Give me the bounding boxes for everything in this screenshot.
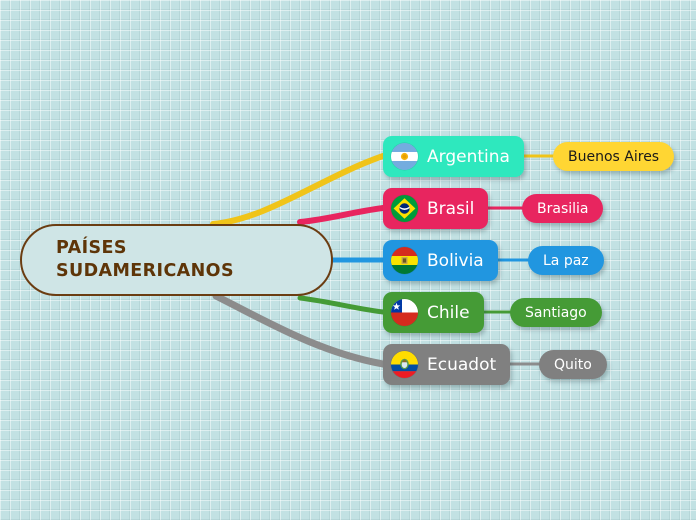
country-label-chile: Chile xyxy=(427,303,470,323)
edge-chile xyxy=(300,298,383,312)
country-label-ecuador: Ecuadot xyxy=(427,355,496,375)
mindmap-canvas[interactable]: PAÍSES SUDAMERICANOS Argentina Buenos Ai… xyxy=(0,0,696,520)
edge-argentina xyxy=(213,156,383,224)
flag-argentina-icon xyxy=(391,143,418,170)
flag-brazil-icon xyxy=(391,195,418,222)
flag-ecuador-icon xyxy=(391,351,418,378)
country-node-argentina[interactable]: Argentina xyxy=(383,136,524,177)
edge-ecuador xyxy=(216,296,383,364)
capital-label-brasilia: Brasilia xyxy=(537,201,588,217)
capital-label-buenos-aires: Buenos Aires xyxy=(568,149,659,165)
country-node-chile[interactable]: Chile xyxy=(383,292,484,333)
capital-node-quito[interactable]: Quito xyxy=(539,350,607,379)
root-node[interactable]: PAÍSES SUDAMERICANOS xyxy=(20,224,333,296)
capital-node-buenos-aires[interactable]: Buenos Aires xyxy=(553,142,674,171)
flag-bolivia-icon xyxy=(391,247,418,274)
country-node-brasil[interactable]: Brasil xyxy=(383,188,488,229)
country-node-bolivia[interactable]: Bolivia xyxy=(383,240,498,281)
country-label-bolivia: Bolivia xyxy=(427,251,484,271)
edge-brasil xyxy=(300,208,383,222)
country-label-argentina: Argentina xyxy=(427,147,510,167)
capital-node-brasilia[interactable]: Brasilia xyxy=(522,194,603,223)
capital-label-quito: Quito xyxy=(554,357,592,373)
capital-label-santiago: Santiago xyxy=(525,305,587,321)
country-node-ecuador[interactable]: Ecuadot xyxy=(383,344,510,385)
capital-node-la-paz[interactable]: La paz xyxy=(528,246,604,275)
capital-label-la-paz: La paz xyxy=(543,253,589,269)
capital-node-santiago[interactable]: Santiago xyxy=(510,298,602,327)
flag-chile-icon xyxy=(391,299,418,326)
root-node-title: PAÍSES SUDAMERICANOS xyxy=(56,237,234,283)
country-label-brasil: Brasil xyxy=(427,199,474,219)
